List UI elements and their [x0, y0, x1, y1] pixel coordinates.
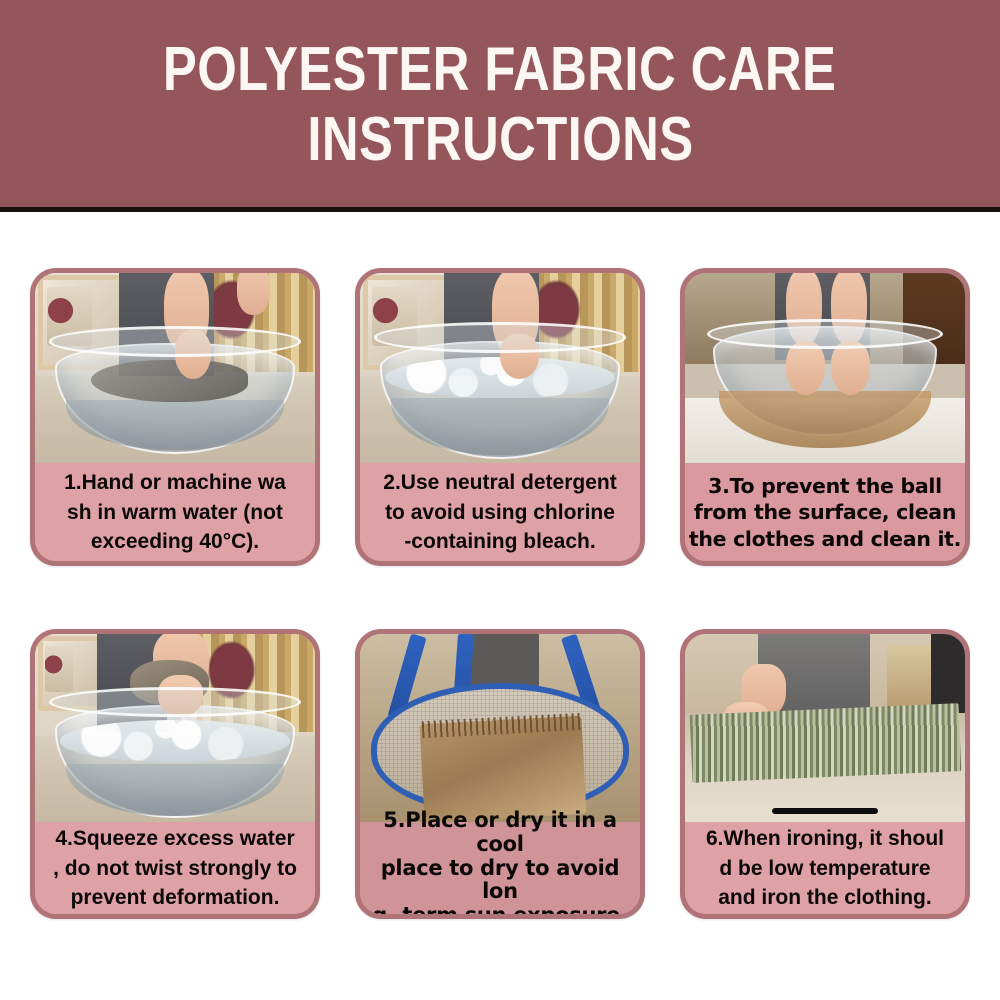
caption-5: 5.Place or dry it in a cool place to dry…: [360, 822, 640, 914]
caption-2: 2.Use neutral detergent to avoid using c…: [360, 463, 640, 561]
header-title-line-1: POLYESTER FABRIC CARE: [163, 38, 836, 102]
infographic-page: POLYESTER FABRIC CARE INSTRUCTIONS 1.Han…: [0, 0, 1000, 1000]
instruction-card-5[interactable]: 5.Place or dry it in a cool place to dry…: [355, 629, 645, 919]
header-banner: POLYESTER FABRIC CARE INSTRUCTIONS: [0, 0, 1000, 212]
photo-flat-dry-rack: [360, 634, 640, 822]
bowl-rim: [49, 687, 301, 717]
hand-left: [786, 341, 825, 394]
instruction-card-4[interactable]: 4.Squeeze excess water , do not twist st…: [30, 629, 320, 919]
photo-ironing-low-temp: [685, 634, 965, 822]
photo-squeeze-water: [35, 634, 315, 822]
caption-1: 1.Hand or machine wa sh in warm water (n…: [35, 463, 315, 561]
instruction-card-6[interactable]: 6.When ironing, it shoul d be low temper…: [680, 629, 970, 919]
soap-foam: [60, 720, 290, 761]
caption-3: 3.To prevent the ball from the surface, …: [685, 463, 965, 561]
bowl-rim: [49, 326, 301, 356]
caption-4: 4.Squeeze excess water , do not twist st…: [35, 822, 315, 914]
photo-two-hands-bowl: [685, 273, 965, 463]
bowl-rim: [707, 319, 942, 349]
bowl-rim: [374, 322, 626, 352]
header-title-line-2: INSTRUCTIONS: [307, 108, 693, 172]
instruction-card-2[interactable]: 2.Use neutral detergent to avoid using c…: [355, 268, 645, 566]
bottom-black-bar: [772, 808, 878, 814]
hand-right: [831, 341, 870, 394]
photo-hand-wash-bowl: [35, 273, 315, 463]
arm-far-right: [237, 273, 271, 315]
photo-neutral-detergent-foam: [360, 273, 640, 463]
caption-6: 6.When ironing, it shoul d be low temper…: [685, 822, 965, 914]
instruction-card-1[interactable]: 1.Hand or machine wa sh in warm water (n…: [30, 268, 320, 566]
striped-textile: [689, 703, 960, 782]
instruction-card-grid: 1.Hand or machine wa sh in warm water (n…: [30, 268, 970, 919]
instruction-card-3[interactable]: 3.To prevent the ball from the surface, …: [680, 268, 970, 566]
